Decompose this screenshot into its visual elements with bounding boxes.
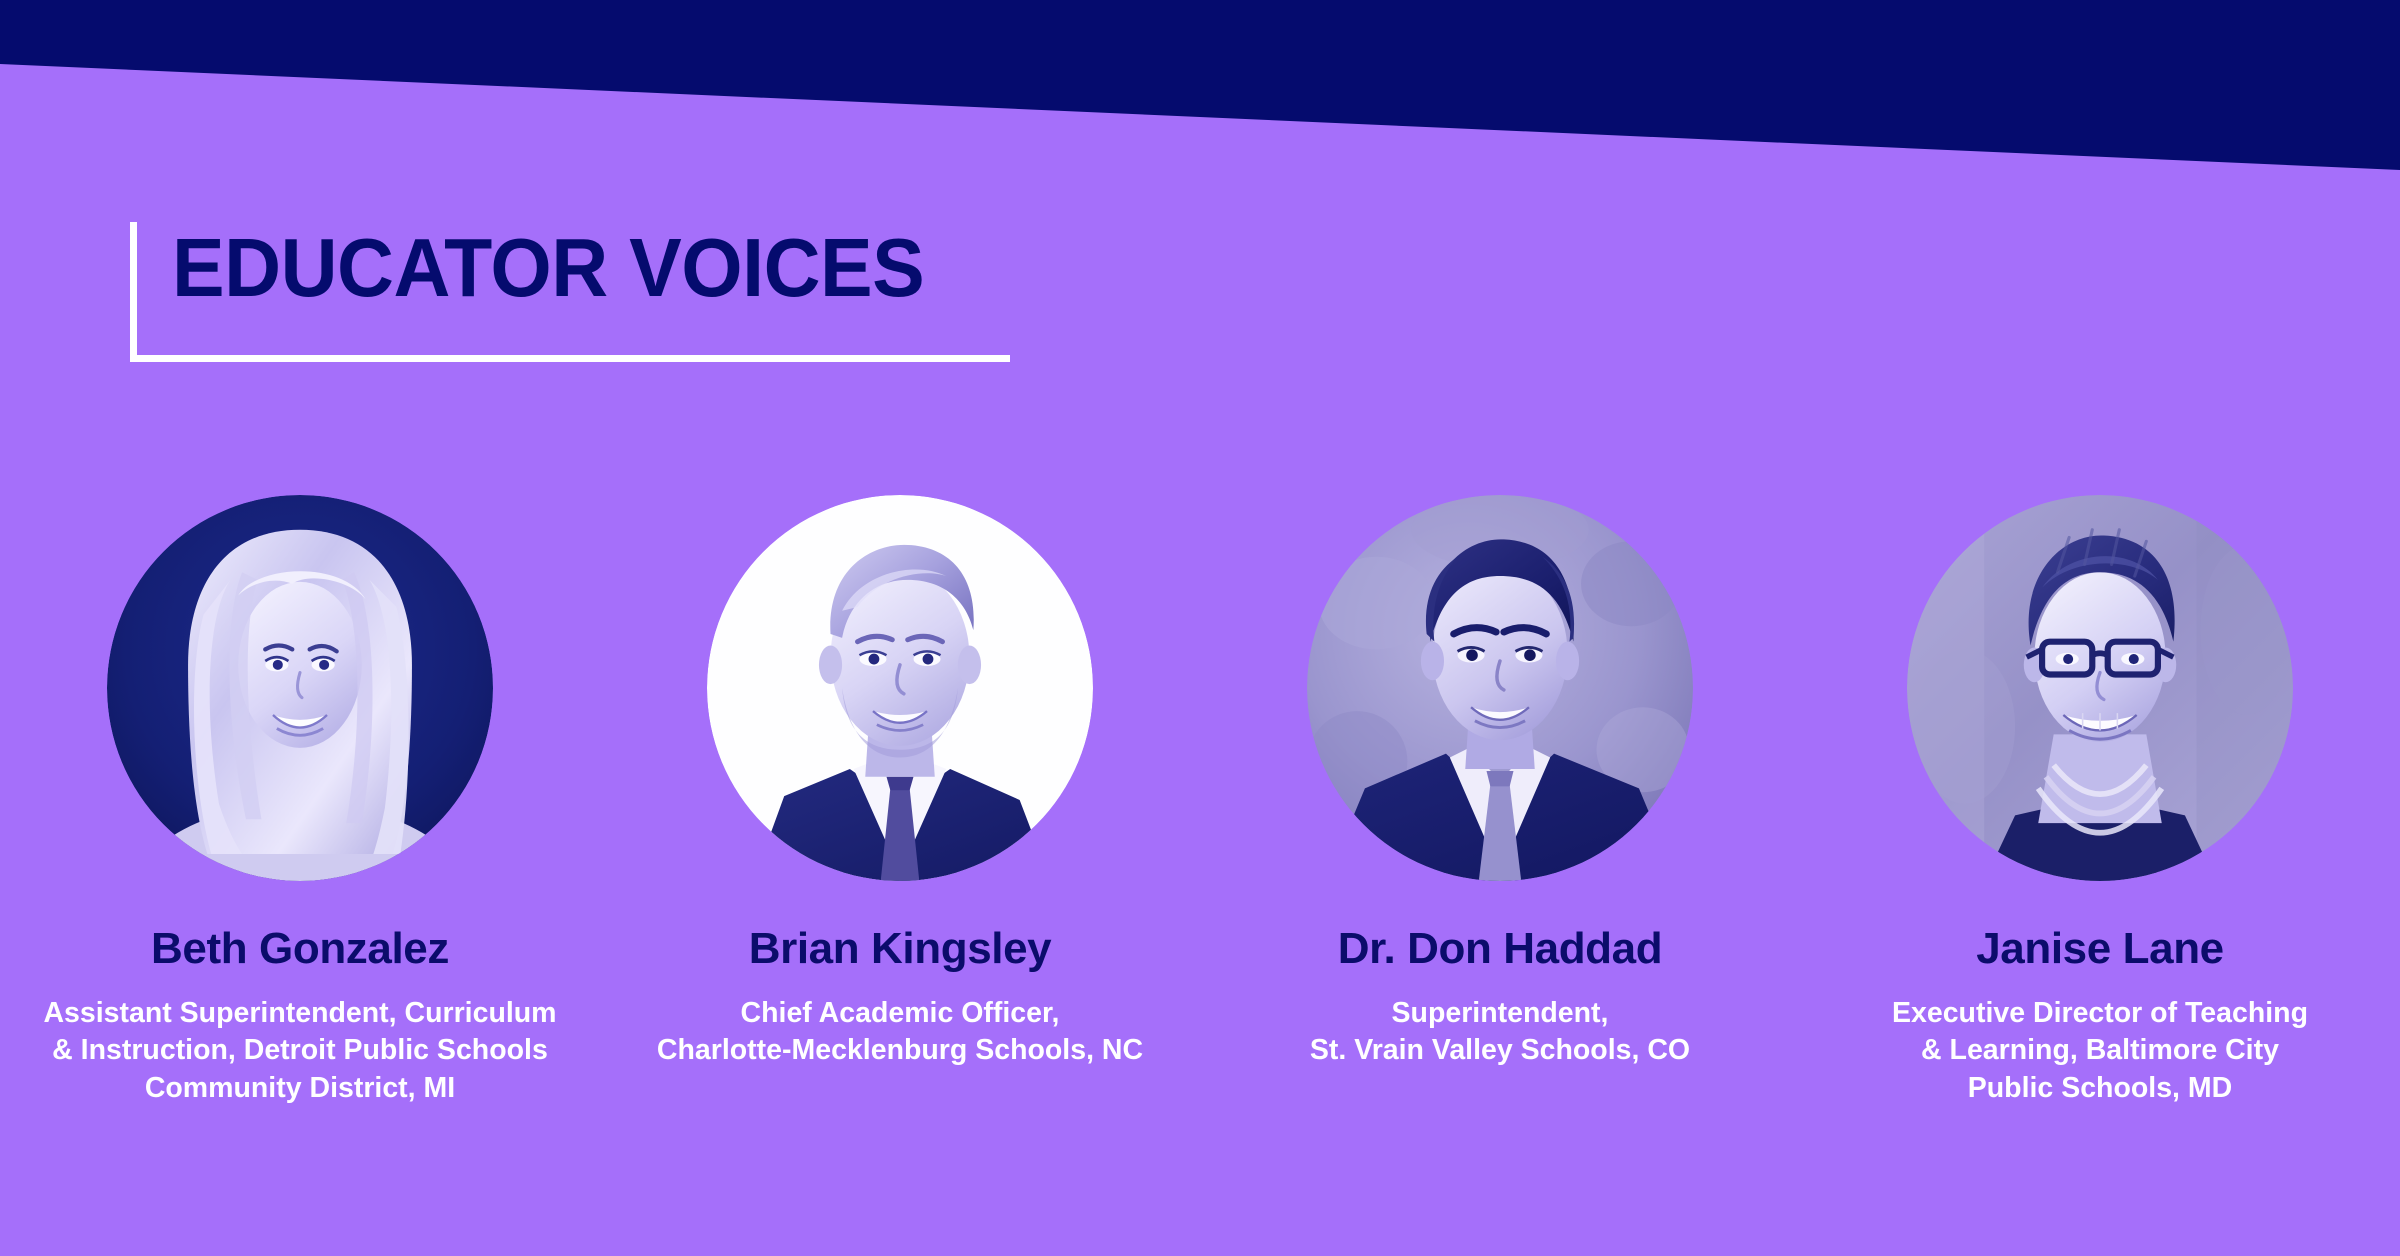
educator-list: Beth Gonzalez Assistant Superintendent, …	[0, 495, 2400, 1107]
educator-role: Chief Academic Officer, Charlotte-Meckle…	[657, 973, 1143, 1070]
educator-role-line: Charlotte-Mecklenburg Schools, NC	[657, 1032, 1143, 1070]
avatar	[1907, 495, 2293, 881]
educator-card: Dr. Don Haddad Superintendent, St. Vrain…	[1200, 495, 1800, 1070]
educator-role-line: Assistant Superintendent, Curriculum	[43, 995, 556, 1033]
educator-name: Beth Gonzalez	[151, 881, 449, 973]
educator-role-line: St. Vrain Valley Schools, CO	[1310, 1032, 1690, 1070]
educator-role-line: Chief Academic Officer,	[657, 995, 1143, 1033]
educator-role-line: Executive Director of Teaching	[1892, 995, 2308, 1033]
avatar	[1307, 495, 1693, 881]
educator-role: Superintendent, St. Vrain Valley Schools…	[1310, 973, 1690, 1070]
heading-rule-horizontal	[130, 355, 1010, 362]
educator-role: Executive Director of Teaching & Learnin…	[1892, 973, 2308, 1108]
navy-diagonal-band	[0, 0, 2400, 200]
educator-role-line: Public Schools, MD	[1892, 1070, 2308, 1108]
educator-name: Dr. Don Haddad	[1338, 881, 1662, 973]
educator-name: Janise Lane	[1976, 881, 2224, 973]
educator-card: Brian Kingsley Chief Academic Officer, C…	[600, 495, 1200, 1070]
avatar	[107, 495, 493, 881]
educator-name: Brian Kingsley	[749, 881, 1052, 973]
heading-block: EDUCATOR VOICES	[130, 222, 1010, 362]
educator-role-line: & Instruction, Detroit Public Schools	[43, 1032, 556, 1070]
educator-role-line: Superintendent,	[1310, 995, 1690, 1033]
avatar	[707, 495, 1093, 881]
heading-rule-vertical	[130, 222, 137, 356]
educator-role-line: Community District, MI	[43, 1070, 556, 1108]
educator-role-line: & Learning, Baltimore City	[1892, 1032, 2308, 1070]
educator-card: Beth Gonzalez Assistant Superintendent, …	[0, 495, 600, 1107]
page-title: EDUCATOR VOICES	[172, 226, 924, 309]
slide-canvas: EDUCATOR VOICES	[0, 0, 2400, 1256]
educator-role: Assistant Superintendent, Curriculum & I…	[43, 973, 556, 1108]
educator-card: Janise Lane Executive Director of Teachi…	[1800, 495, 2400, 1107]
